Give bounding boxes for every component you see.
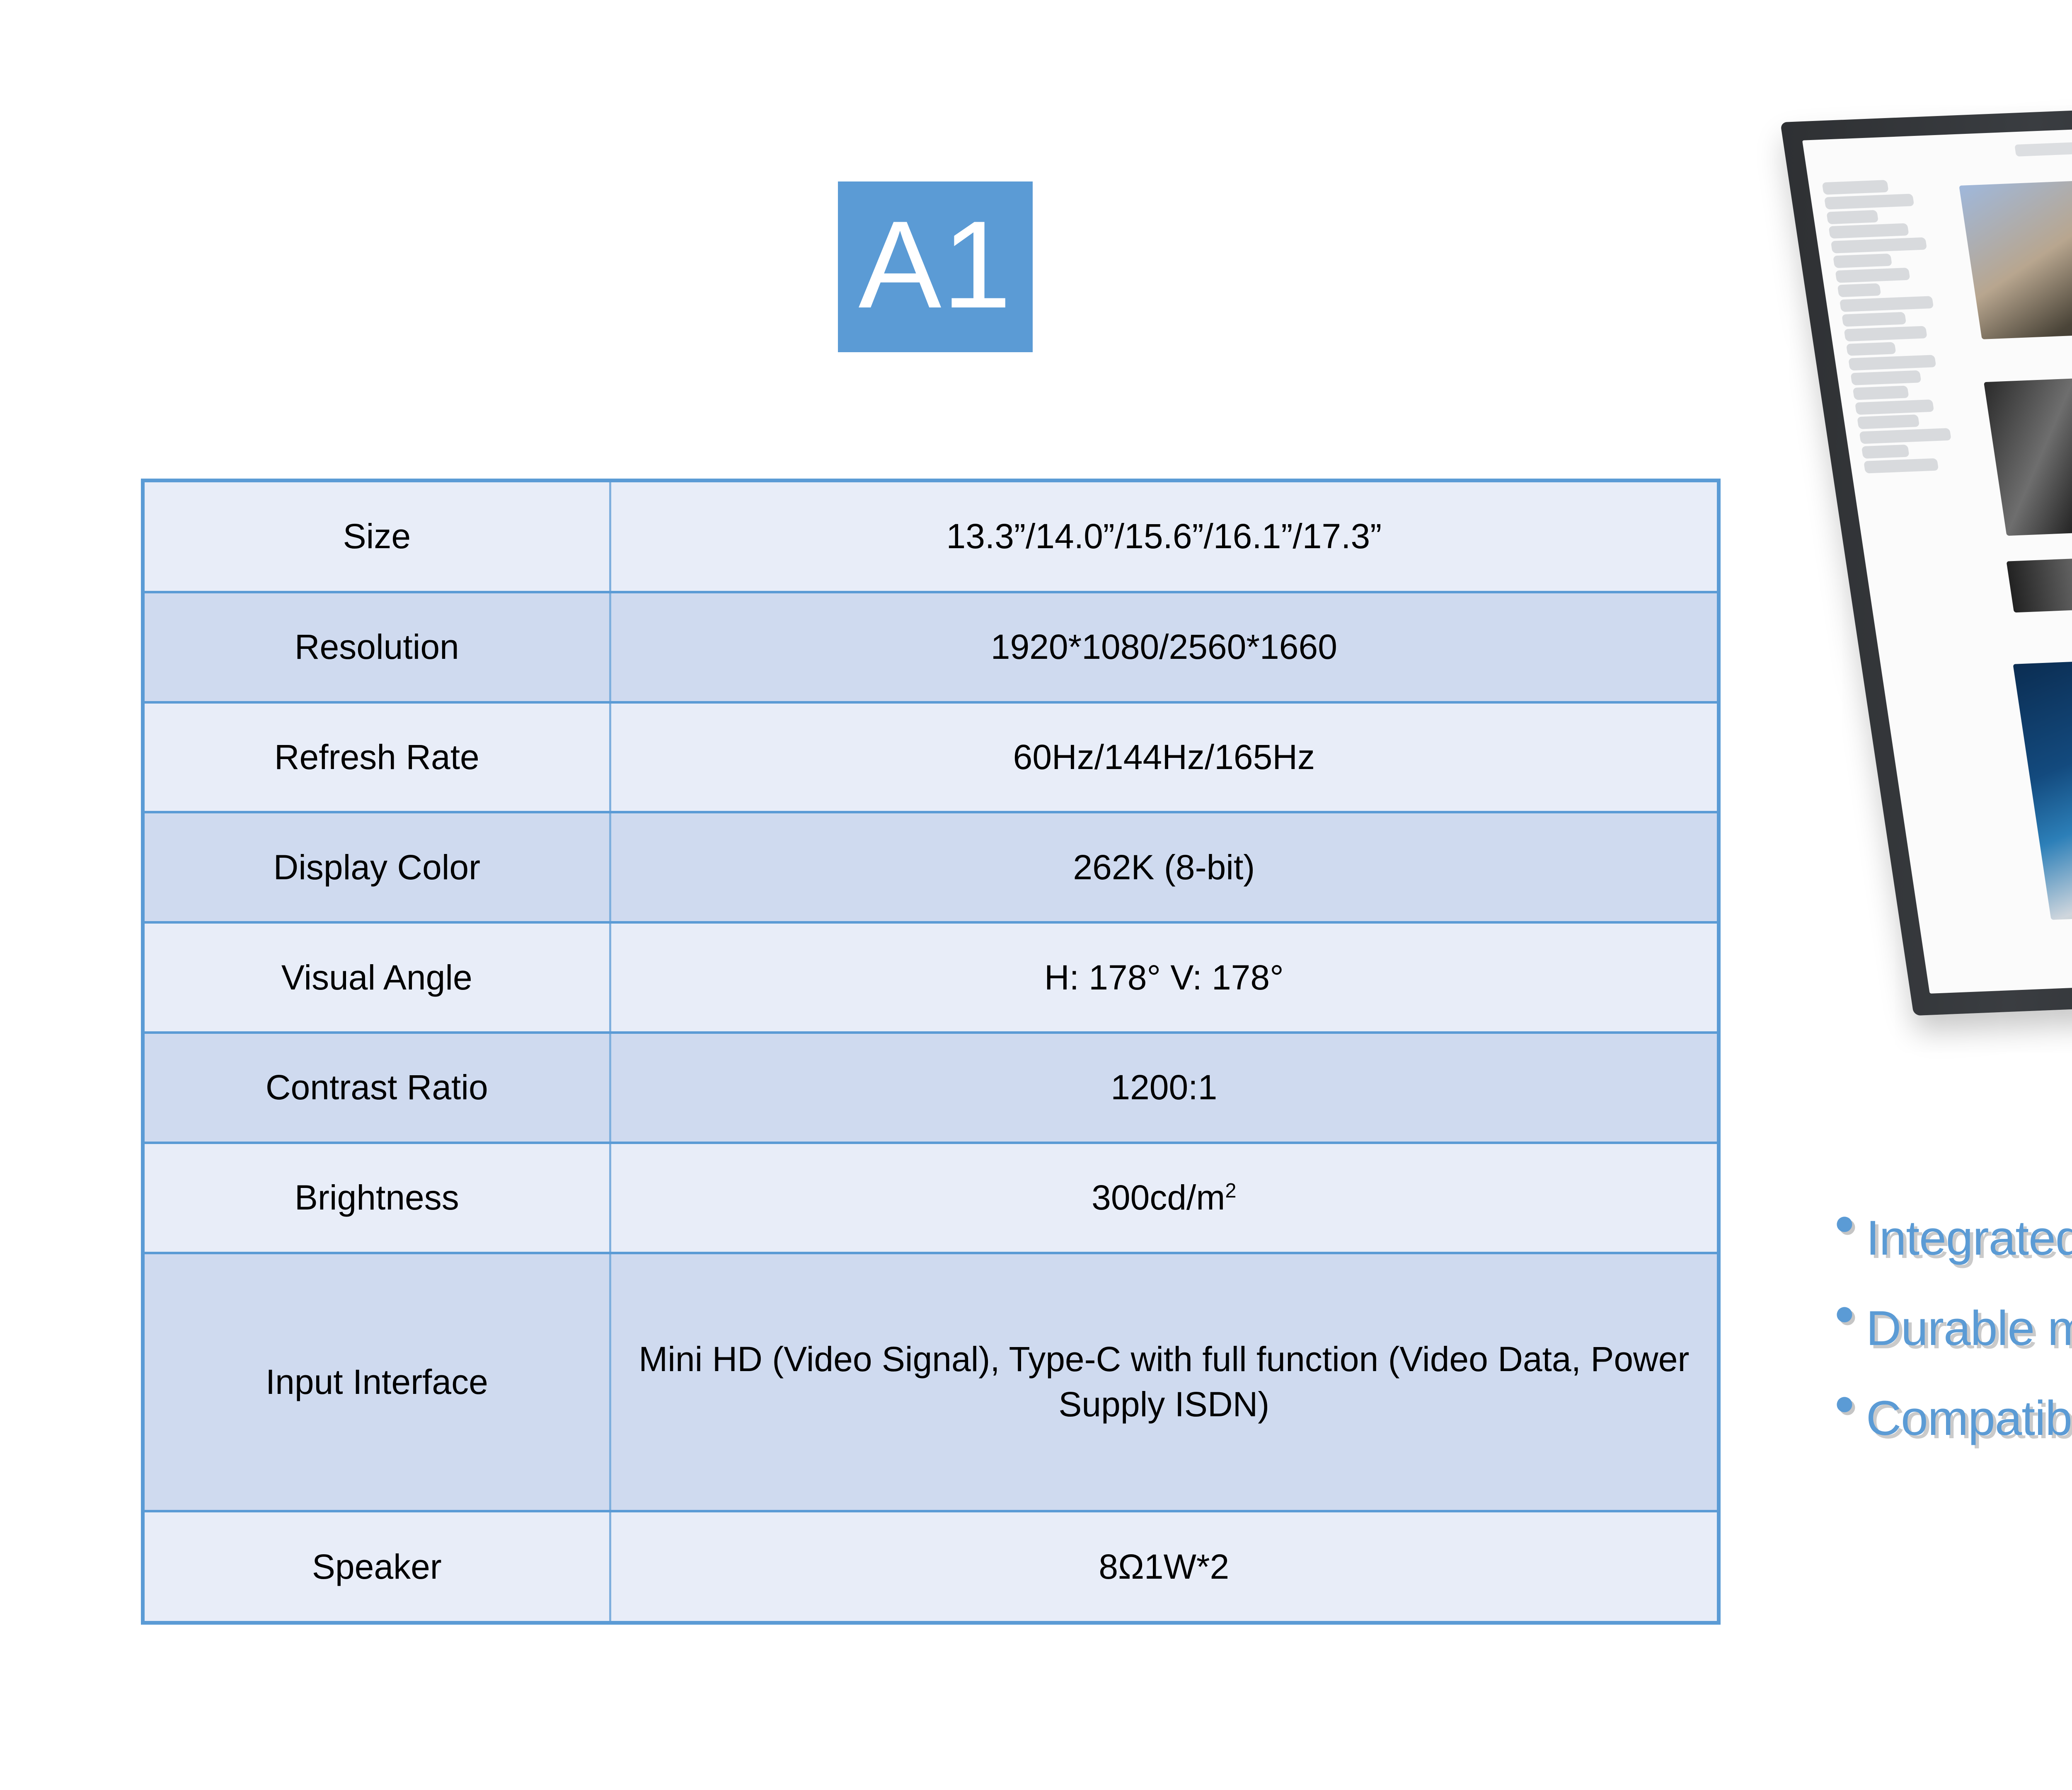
list-item: ● Compatible with Phone/Laptop/Xbox/Swit… xyxy=(1834,1384,2072,1454)
bullet-dot-icon: ● xyxy=(1834,1294,1855,1331)
spec-value-brightness: 300cd/m2 xyxy=(610,1143,1719,1253)
product-code-label: A1 xyxy=(859,202,1012,327)
monitor-front-chassis xyxy=(1780,103,2072,1016)
spec-label-refresh-rate: Refresh Rate xyxy=(143,702,610,813)
table-row: Visual Angle H: 178° V: 178° xyxy=(143,922,1719,1033)
spec-label-contrast-ratio: Contrast Ratio xyxy=(143,1033,610,1143)
spec-value-display-color: 262K (8-bit) xyxy=(610,812,1719,922)
table-row: Size 13.3”/14.0”/15.6”/16.1”/17.3” xyxy=(143,481,1719,592)
spec-label-size: Size xyxy=(143,481,610,592)
specification-table: Size 13.3”/14.0”/15.6”/16.1”/17.3” Resol… xyxy=(141,479,1721,1625)
feature-text-compatibility: Compatible with Phone/Laptop/Xbox/Switch… xyxy=(1866,1384,2072,1454)
spec-value-resolution: 1920*1080/2560*1660 xyxy=(610,592,1719,702)
screen-image-people xyxy=(1959,175,2072,339)
screen-image-monochrome xyxy=(1984,374,2072,536)
slide-canvas: A1 Size 13.3”/14.0”/15.6”/16.1”/17.3” Re… xyxy=(0,0,2072,1790)
spec-value-input-interface: Mini HD (Video Signal), Type-C with full… xyxy=(610,1253,1719,1511)
spec-label-visual-angle: Visual Angle xyxy=(143,922,610,1033)
list-item: ● Durable metal materials xyxy=(1834,1294,2072,1364)
spec-label-input-interface: Input Interface xyxy=(143,1253,610,1511)
screen-image-strip xyxy=(2006,554,2072,613)
spec-value-refresh-rate: 60Hz/144Hz/165Hz xyxy=(610,702,1719,813)
brightness-number: 300cd/m xyxy=(1092,1178,1225,1217)
product-photo-group xyxy=(1815,104,2072,1098)
table-row: Contrast Ratio 1200:1 xyxy=(143,1033,1719,1143)
feature-text-durable-metal: Durable metal materials xyxy=(1866,1294,2072,1364)
spec-label-resolution: Resolution xyxy=(143,592,610,702)
spec-value-speaker: 8Ω1W*2 xyxy=(610,1511,1719,1623)
table-row: Input Interface Mini HD (Video Signal), … xyxy=(143,1253,1719,1511)
spec-label-speaker: Speaker xyxy=(143,1511,610,1623)
feature-bullet-list: ● Integrated stand ● Durable metal mater… xyxy=(1834,1204,2072,1474)
spec-value-size: 13.3”/14.0”/15.6”/16.1”/17.3” xyxy=(610,481,1719,592)
spec-label-display-color: Display Color xyxy=(143,812,610,922)
product-code-badge: A1 xyxy=(838,181,1033,352)
spec-value-contrast-ratio: 1200:1 xyxy=(610,1033,1719,1143)
spec-value-visual-angle: H: 178° V: 178° xyxy=(610,922,1719,1033)
table-row: Resolution 1920*1080/2560*1660 xyxy=(143,592,1719,702)
screen-topbar xyxy=(2014,139,2072,157)
spec-label-brightness: Brightness xyxy=(143,1143,610,1253)
table-row: Brightness 300cd/m2 xyxy=(143,1143,1719,1253)
bullet-dot-icon: ● xyxy=(1834,1204,1855,1241)
bullet-dot-icon: ● xyxy=(1834,1384,1855,1421)
table-row: Refresh Rate 60Hz/144Hz/165Hz xyxy=(143,702,1719,813)
portable-monitor-front-view xyxy=(1848,108,2072,1044)
table-row: Display Color 262K (8-bit) xyxy=(143,812,1719,922)
monitor-screen-content xyxy=(1802,123,2072,994)
table-row: Speaker 8Ω1W*2 xyxy=(143,1511,1719,1623)
list-item: ● Integrated stand xyxy=(1834,1204,2072,1273)
feature-text-integrated-stand: Integrated stand xyxy=(1866,1204,2072,1273)
brightness-superscript: 2 xyxy=(1225,1180,1236,1202)
